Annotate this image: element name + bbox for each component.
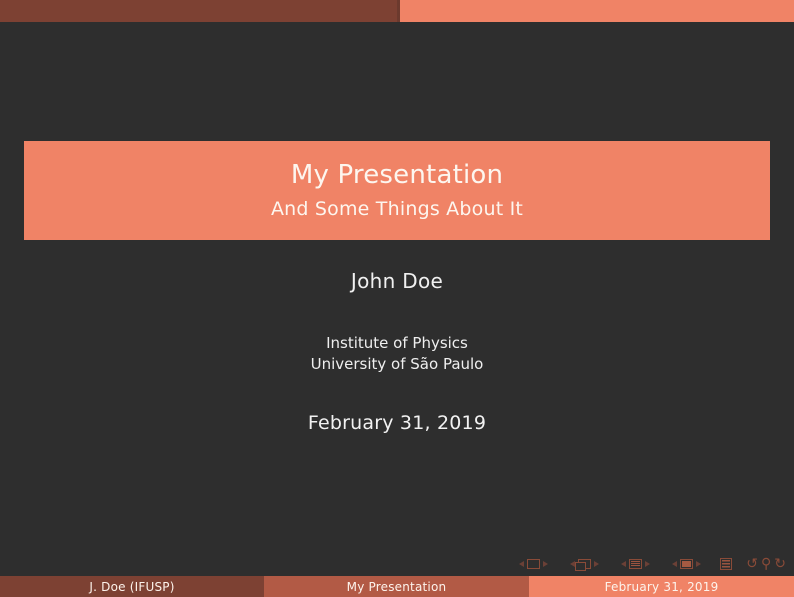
- frame-icon[interactable]: [527, 559, 540, 569]
- presentation-date: February 31, 2019: [0, 412, 794, 434]
- slide-footer: J. Doe (IFUSP) My Presentation February …: [0, 576, 794, 597]
- forward-icon[interactable]: ↻: [774, 557, 786, 571]
- headbar-left-segment: [0, 0, 397, 22]
- author-name: John Doe: [0, 270, 794, 293]
- nav-group-part[interactable]: [669, 559, 704, 569]
- nav-group-section[interactable]: [618, 559, 653, 569]
- lined-frame-icon[interactable]: [629, 559, 642, 569]
- beamer-navigation-bar[interactable]: ↺ ⚲ ↻: [516, 553, 786, 575]
- solid-frame-icon[interactable]: [680, 559, 693, 569]
- title-page-body: John Doe Institute of Physics University…: [0, 270, 794, 434]
- next-subsection-arrow-icon[interactable]: [594, 561, 599, 567]
- title-block: My Presentation And Some Things About It: [24, 141, 770, 240]
- back-icon[interactable]: ↺: [746, 557, 758, 571]
- presentation-title: My Presentation: [291, 161, 503, 190]
- headbar-right-segment: [400, 0, 794, 22]
- stacked-frames-icon[interactable]: [578, 559, 591, 569]
- institute-line-1: Institute of Physics: [0, 333, 794, 354]
- nav-group-slide[interactable]: [516, 559, 551, 569]
- footer-title: My Presentation: [264, 576, 529, 597]
- next-part-arrow-icon[interactable]: [696, 561, 701, 567]
- institute-block: Institute of Physics University of São P…: [0, 333, 794, 375]
- nav-group-subsection[interactable]: [567, 559, 602, 569]
- prev-section-arrow-icon[interactable]: [621, 561, 626, 567]
- footer-author: J. Doe (IFUSP): [0, 576, 264, 597]
- next-slide-arrow-icon[interactable]: [543, 561, 548, 567]
- prev-slide-arrow-icon[interactable]: [519, 561, 524, 567]
- search-icon[interactable]: ⚲: [761, 557, 771, 571]
- nav-tools-group[interactable]: ↺ ⚲ ↻: [746, 557, 786, 571]
- presentation-subtitle: And Some Things About It: [271, 199, 523, 220]
- institute-line-2: University of São Paulo: [0, 354, 794, 375]
- footer-date: February 31, 2019: [529, 576, 794, 597]
- document-icon[interactable]: [720, 558, 732, 570]
- next-section-arrow-icon[interactable]: [645, 561, 650, 567]
- presentation-slide: My Presentation And Some Things About It…: [0, 0, 794, 597]
- prev-part-arrow-icon[interactable]: [672, 561, 677, 567]
